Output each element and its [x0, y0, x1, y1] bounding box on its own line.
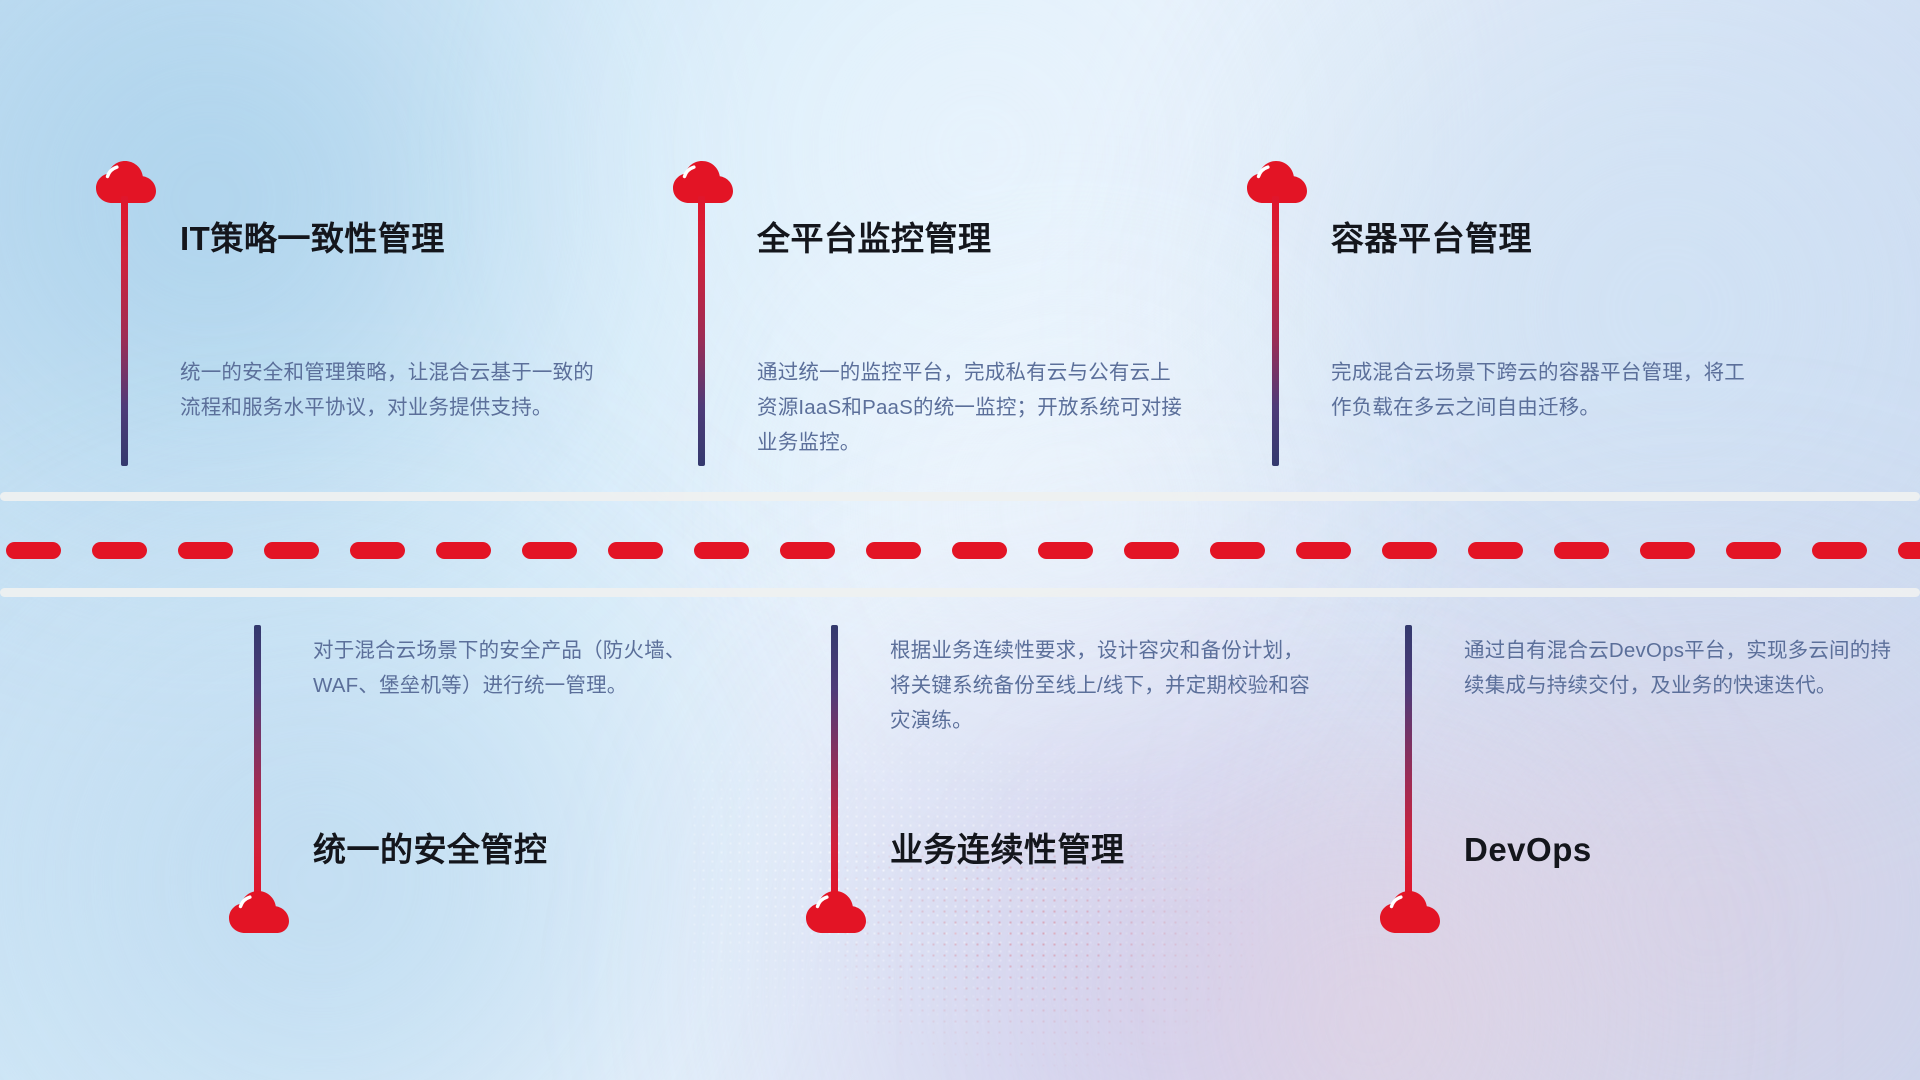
top-item-2-body: 通过统一的监控平台，完成私有云与公有云上资源IaaS和PaaS的统一监控；开放系…	[757, 355, 1189, 460]
connector-line	[1272, 196, 1279, 466]
divider-dash	[866, 542, 921, 559]
divider-dash	[264, 542, 319, 559]
divider-dash	[1812, 542, 1867, 559]
divider-dash	[178, 542, 233, 559]
divider-dash	[92, 542, 147, 559]
divider-dash	[1038, 542, 1093, 559]
top-item-3-body: 完成混合云场景下跨云的容器平台管理，将工作负载在多云之间自由迁移。	[1331, 355, 1763, 425]
divider-dash	[694, 542, 749, 559]
divider-dash	[608, 542, 663, 559]
bottom-item-3-title: DevOps	[1464, 833, 1592, 866]
bottom-item-1-title: 统一的安全管控	[313, 833, 548, 866]
bottom-item-2-title: 业务连续性管理	[890, 833, 1125, 866]
divider-dash	[1640, 542, 1695, 559]
connector-line	[1405, 625, 1412, 895]
divider-dash	[1382, 542, 1437, 559]
divider-dash	[1726, 542, 1781, 559]
divider-dash	[350, 542, 405, 559]
divider-dash	[1296, 542, 1351, 559]
top-item-2-title: 全平台监控管理	[757, 222, 992, 255]
divider-dash	[1554, 542, 1609, 559]
cloud-icon	[805, 890, 867, 934]
connector-line	[121, 196, 128, 466]
cloud-icon	[228, 890, 290, 934]
divider-dash	[1898, 542, 1920, 559]
divider-dash	[952, 542, 1007, 559]
connector-line	[698, 196, 705, 466]
connector-line	[831, 625, 838, 895]
top-item-1-body: 统一的安全和管理策略，让混合云基于一致的流程和服务水平协议，对业务提供支持。	[180, 355, 612, 425]
top-item-1-title: IT策略一致性管理	[180, 222, 445, 255]
divider-dash	[6, 542, 61, 559]
divider-dash	[1210, 542, 1265, 559]
divider-dash	[1124, 542, 1179, 559]
cloud-icon	[1379, 890, 1441, 934]
bottom-item-2-body: 根据业务连续性要求，设计容灾和备份计划，将关键系统备份至线上/线下，并定期校验和…	[890, 633, 1322, 738]
top-item-3-title: 容器平台管理	[1331, 222, 1532, 255]
divider-dash	[780, 542, 835, 559]
divider-line-top	[0, 492, 1920, 501]
bottom-item-3-body: 通过自有混合云DevOps平台，实现多云间的持续集成与持续交付，及业务的快速迭代…	[1464, 633, 1896, 703]
divider-dash	[1468, 542, 1523, 559]
connector-line	[254, 625, 261, 895]
divider-dash	[522, 542, 577, 559]
divider-line-bottom	[0, 588, 1920, 597]
bottom-item-1-body: 对于混合云场景下的安全产品（防火墙、WAF、堡垒机等）进行统一管理。	[313, 633, 745, 703]
dashed-road-divider	[0, 542, 1920, 559]
divider-dash	[436, 542, 491, 559]
